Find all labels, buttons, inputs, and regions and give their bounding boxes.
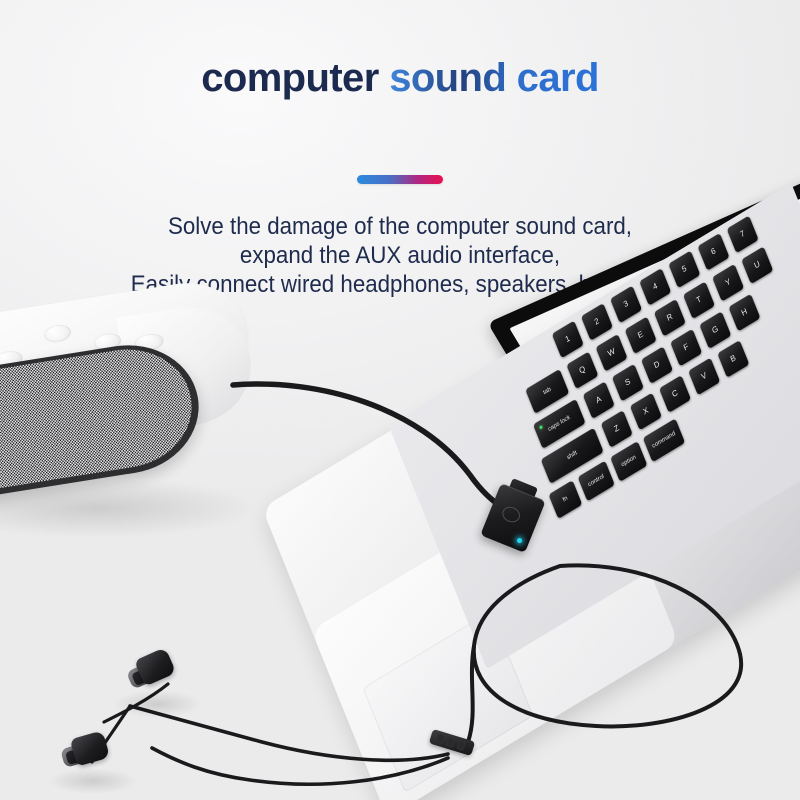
key-4[interactable]: 4 xyxy=(639,268,671,306)
key-t[interactable]: T xyxy=(683,281,715,319)
key-2[interactable]: 2 xyxy=(581,303,613,341)
earbud-shadow xyxy=(112,690,202,718)
key-b[interactable]: B xyxy=(717,340,749,378)
key-control[interactable]: control xyxy=(578,461,615,502)
key-w[interactable]: W xyxy=(595,334,627,372)
product-photo: 1 2 3 4 5 6 7 tab Q W E R T Y U xyxy=(0,0,800,800)
key-c[interactable]: C xyxy=(659,375,691,413)
key-a[interactable]: A xyxy=(583,381,615,419)
bluetooth-speaker xyxy=(0,273,279,542)
earbud-right xyxy=(123,647,179,697)
key-z[interactable]: Z xyxy=(601,410,633,448)
key-s[interactable]: S xyxy=(612,364,644,402)
key-6[interactable]: 6 xyxy=(697,233,729,271)
product-banner: computer sound card Solve the damage of … xyxy=(0,0,800,800)
key-7[interactable]: 7 xyxy=(727,215,759,253)
earbud-shadow xyxy=(48,768,138,794)
status-led xyxy=(516,537,523,544)
capslock-led xyxy=(539,425,543,429)
key-h[interactable]: H xyxy=(728,294,760,332)
key-g[interactable]: G xyxy=(699,311,731,349)
key-x[interactable]: X xyxy=(630,393,662,431)
remote-button xyxy=(435,734,444,745)
key-q[interactable]: Q xyxy=(566,351,598,389)
key-fn[interactable]: fn xyxy=(548,480,582,519)
key-f[interactable]: F xyxy=(670,329,702,367)
audio-jack-icon xyxy=(500,504,522,525)
key-r[interactable]: R xyxy=(654,299,686,337)
key-3[interactable]: 3 xyxy=(610,286,642,324)
key-option[interactable]: option xyxy=(610,441,647,482)
earbud-left xyxy=(58,730,112,775)
key-5[interactable]: 5 xyxy=(668,250,700,288)
speaker-mesh-texture xyxy=(0,340,200,502)
earbud-body xyxy=(70,730,110,766)
key-v[interactable]: V xyxy=(688,358,720,396)
speaker-grille xyxy=(0,335,208,508)
key-command[interactable]: command xyxy=(643,418,685,462)
key-d[interactable]: D xyxy=(641,346,673,384)
key-y[interactable]: Y xyxy=(712,264,744,302)
remote-button xyxy=(456,740,465,751)
key-e[interactable]: E xyxy=(625,316,657,354)
key-u[interactable]: U xyxy=(741,246,773,284)
remote-button xyxy=(446,737,455,748)
key-1[interactable]: 1 xyxy=(552,321,584,359)
